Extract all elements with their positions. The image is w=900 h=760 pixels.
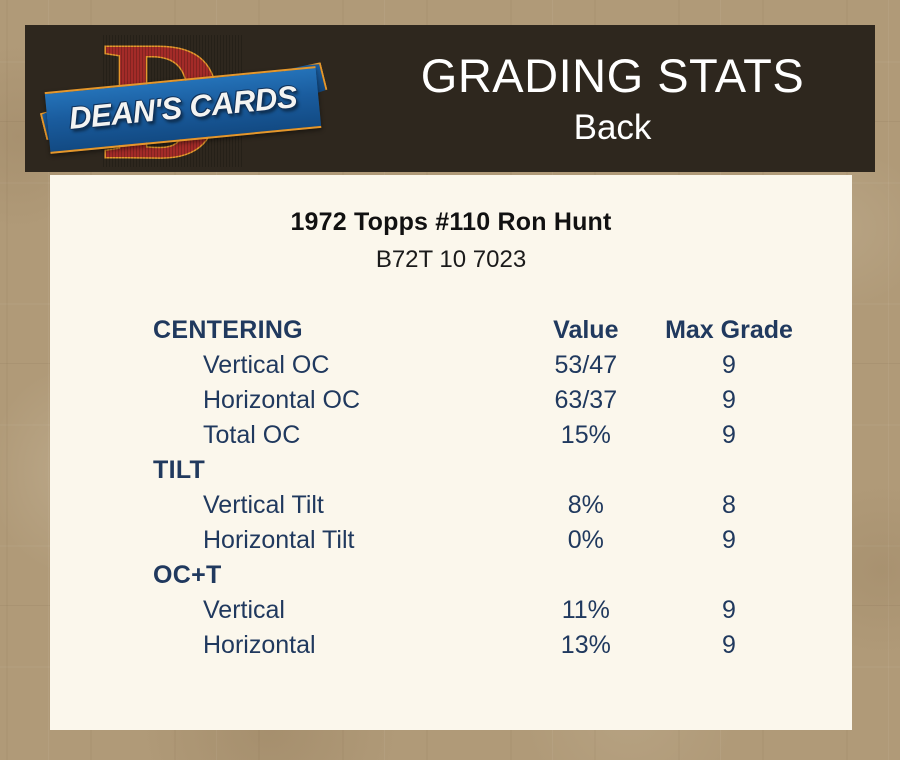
- stat-value: 11%: [515, 593, 657, 628]
- header-bar: D DEAN'S CARDS GRADING STATS Back: [25, 25, 875, 172]
- grading-stats-body: CENTERINGValueMax GradeVertical OC53/479…: [101, 313, 801, 663]
- max-grade-column-spacer: [657, 558, 801, 593]
- value-column-spacer: [515, 558, 657, 593]
- stat-max-grade: 9: [657, 523, 801, 558]
- table-row: Total OC15%9: [101, 418, 801, 453]
- table-row: Vertical Tilt8%8: [101, 488, 801, 523]
- stat-max-grade: 9: [657, 383, 801, 418]
- stat-label: Horizontal: [101, 628, 515, 663]
- table-row: Vertical11%9: [101, 593, 801, 628]
- stat-max-grade: 9: [657, 628, 801, 663]
- stats-section-header-row: OC+T: [101, 558, 801, 593]
- stat-value: 53/47: [515, 348, 657, 383]
- stats-section-title: OC+T: [101, 558, 515, 593]
- stat-value: 13%: [515, 628, 657, 663]
- table-row: Horizontal13%9: [101, 628, 801, 663]
- page-subtitle: Back: [574, 106, 652, 150]
- deans-cards-logo[interactable]: D DEAN'S CARDS: [47, 27, 319, 172]
- stat-label: Horizontal OC: [101, 383, 515, 418]
- stat-value: 15%: [515, 418, 657, 453]
- value-column-header: Value: [515, 313, 657, 348]
- stat-label: Total OC: [101, 418, 515, 453]
- stat-max-grade: 9: [657, 348, 801, 383]
- max-grade-column-spacer: [657, 453, 801, 488]
- value-column-spacer: [515, 453, 657, 488]
- stat-value: 0%: [515, 523, 657, 558]
- stat-label: Vertical: [101, 593, 515, 628]
- card-identifier: B72T 10 7023: [50, 246, 852, 274]
- stat-label: Horizontal Tilt: [101, 523, 515, 558]
- stats-section-header-row: CENTERINGValueMax Grade: [101, 313, 801, 348]
- stats-section-header-row: TILT: [101, 453, 801, 488]
- stat-value: 8%: [515, 488, 657, 523]
- stat-value: 63/37: [515, 383, 657, 418]
- table-row: Horizontal Tilt0%9: [101, 523, 801, 558]
- max-grade-column-header: Max Grade: [657, 313, 801, 348]
- stat-label: Vertical Tilt: [101, 488, 515, 523]
- stat-max-grade: 8: [657, 488, 801, 523]
- stats-section-title: CENTERING: [101, 313, 515, 348]
- header-title-group: GRADING STATS Back: [325, 25, 900, 172]
- grading-stats-table: CENTERINGValueMax GradeVertical OC53/479…: [101, 313, 801, 663]
- stat-label: Vertical OC: [101, 348, 515, 383]
- stat-max-grade: 9: [657, 418, 801, 453]
- content-panel: 1972 Topps #110 Ron Hunt B72T 10 7023 CE…: [50, 175, 852, 730]
- table-row: Vertical OC53/479: [101, 348, 801, 383]
- stat-max-grade: 9: [657, 593, 801, 628]
- stats-section-title: TILT: [101, 453, 515, 488]
- table-row: Horizontal OC63/379: [101, 383, 801, 418]
- page-title: GRADING STATS: [421, 48, 804, 104]
